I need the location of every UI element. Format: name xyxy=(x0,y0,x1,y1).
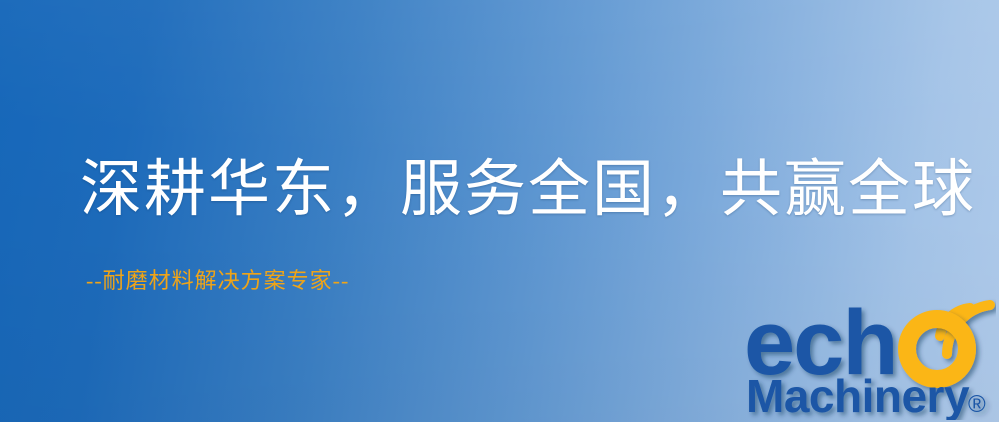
logo-svg: ech Machinery ® xyxy=(744,296,996,420)
echo-machinery-logo[interactable]: ech Machinery ® xyxy=(744,296,996,420)
registered-trademark-icon: ® xyxy=(968,391,986,418)
logo-tagline-group: Machinery ® xyxy=(746,370,986,420)
logo-tagline-text: Machinery xyxy=(746,370,970,420)
banner-subtitle: --耐磨材料解决方案专家-- xyxy=(86,268,349,294)
hero-banner: 深耕华东，服务全国，共赢全球 --耐磨材料解决方案专家-- ech xyxy=(0,0,999,422)
banner-headline: 深耕华东，服务全国，共赢全球 xyxy=(80,155,976,225)
